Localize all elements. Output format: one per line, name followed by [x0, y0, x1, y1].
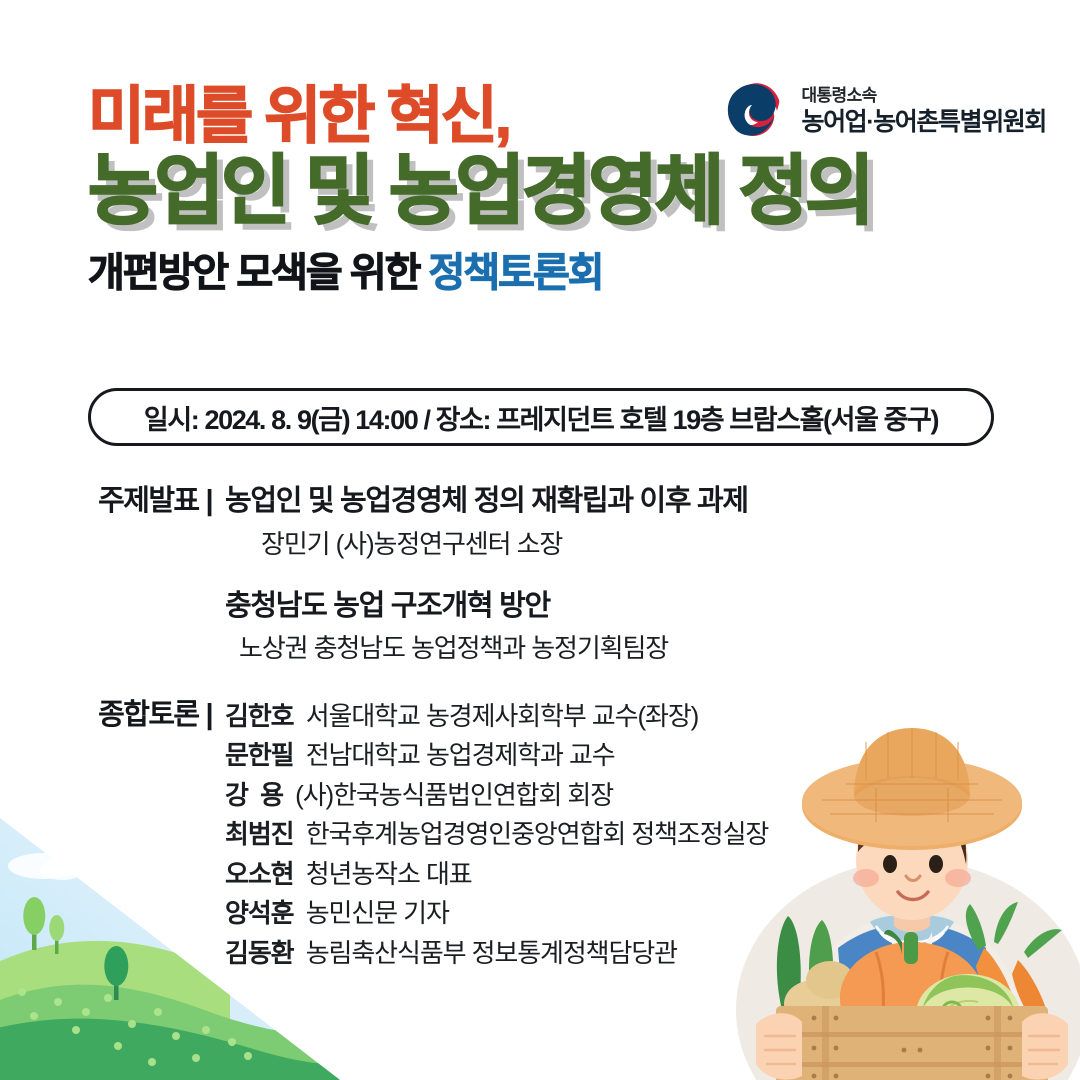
heading-block: 미래를 위한 혁신, 농업인 및 농업경영체 정의 개편방안 모색을 위한 정책…: [88, 86, 988, 294]
panelist-affiliation: 농민신문 기자: [293, 898, 448, 928]
panelist-row: 문한필 전남대학교 농업경제학과 교수: [225, 736, 1080, 776]
panelist-name: 김동환: [225, 938, 293, 968]
presentation-topic-2: 충청남도 농업 구조개혁 방안: [225, 588, 1080, 626]
presentation-block: 주제발표| 농업인 및 농업경영체 정의 재확립과 이후 과제 장민기 (사)농…: [0, 483, 1080, 667]
panelist-row: 오소현 청년농작소 대표: [225, 855, 1080, 895]
heading-subtitle-plain: 개편방안 모색을 위한: [88, 251, 429, 295]
presentation-speaker-1: 장민기 (사)농정연구센터 소장: [225, 527, 1080, 562]
panelist-affiliation: 농림축산식품부 정보통계정책담당관: [293, 938, 677, 968]
panelist-affiliation: (사)한국농식품법인연합회 회장: [283, 780, 613, 810]
discussion-block: 종합토론| 김한호 서울대학교 농경제사회학부 교수(좌장)문한필 전남대학교 …: [0, 697, 1080, 974]
heading-line-2: 농업인 및 농업경영체 정의: [88, 154, 988, 230]
event-info-pill: 일시: 2024. 8. 9(금) 14:00 / 장소: 프레지던트 호텔 1…: [88, 388, 994, 446]
presentation-body: 농업인 및 농업경영체 정의 재확립과 이후 과제 장민기 (사)농정연구센터 …: [212, 483, 1080, 667]
panelist-row: 김한호 서울대학교 농경제사회학부 교수(좌장): [225, 697, 1080, 737]
panelist-name: 문한필: [225, 740, 293, 770]
panelist-name: 오소현: [225, 859, 293, 889]
presentation-label: 주제발표|: [0, 483, 212, 519]
poster-canvas: 대통령소속 농어업·농어촌특별위원회 미래를 위한 혁신, 농업인 및 농업경영…: [0, 0, 1080, 1080]
panelist-row: 김동환 농림축산식품부 정보통계정책담당관: [225, 934, 1080, 974]
panelist-row: 양석훈 농민신문 기자: [225, 894, 1080, 934]
discussion-label-text: 종합토론: [98, 699, 198, 731]
program-section: 주제발표| 농업인 및 농업경영체 정의 재확립과 이후 과제 장민기 (사)농…: [0, 483, 1080, 973]
panelist-row: 최범진 한국후계농업경영인중앙연합회 정책조정실장: [225, 815, 1080, 855]
presentation-label-text: 주제발표: [98, 485, 198, 517]
panelist-affiliation: 서울대학교 농경제사회학부 교수(좌장): [293, 701, 698, 731]
heading-subtitle-accent: 정책토론회: [429, 251, 603, 295]
panelist-name: 최범진: [225, 819, 293, 849]
panelist-affiliation: 한국후계농업경영인중앙연합회 정책조정실장: [293, 819, 768, 849]
panelist-affiliation: 전남대학교 농업경제학과 교수: [293, 740, 614, 770]
heading-line-1: 미래를 위한 혁신,: [88, 86, 988, 148]
panelist-name: 양석훈: [225, 898, 293, 928]
presentation-speaker-2: 노상권 충청남도 농업정책과 농정기획팀장: [225, 631, 1080, 666]
heading-line-3: 개편방안 모색을 위한 정책토론회: [88, 252, 988, 294]
panelist-row: 강 용 (사)한국농식품법인연합회 회장: [225, 776, 1080, 816]
event-info-text: 일시: 2024. 8. 9(금) 14:00 / 장소: 프레지던트 호텔 1…: [144, 398, 938, 437]
presentation-topic-1: 농업인 및 농업경영체 정의 재확립과 이후 과제: [225, 483, 1080, 521]
panelist-name: 강 용: [225, 780, 283, 810]
panelist-affiliation: 청년농작소 대표: [293, 859, 471, 889]
panelist-list: 김한호 서울대학교 농경제사회학부 교수(좌장)문한필 전남대학교 농업경제학과…: [225, 697, 1080, 974]
panelist-name: 김한호: [225, 701, 293, 731]
discussion-body: 김한호 서울대학교 농경제사회학부 교수(좌장)문한필 전남대학교 농업경제학과…: [212, 697, 1080, 974]
discussion-label: 종합토론|: [0, 697, 212, 733]
